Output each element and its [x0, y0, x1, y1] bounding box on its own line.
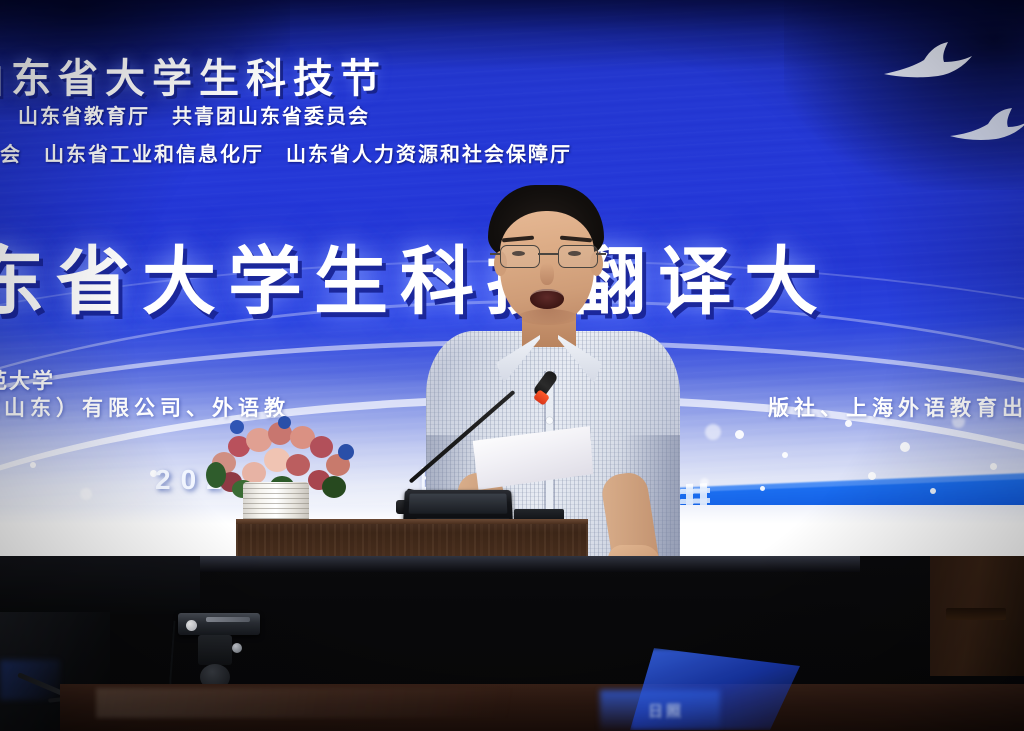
mic-stem — [409, 390, 516, 484]
bokeh-dot — [782, 452, 788, 458]
flower-accent — [278, 416, 291, 429]
dove-icon — [880, 40, 976, 92]
vase-ribs — [243, 482, 309, 524]
speaker-nose — [540, 263, 554, 285]
flower-bloom — [310, 436, 333, 458]
sponsor-line-right: 版社、上海外语教育出 — [768, 392, 1024, 422]
event-series-title: 山东省大学生科技节 — [0, 46, 387, 104]
tripod-head[interactable] — [198, 635, 232, 665]
tripod-knob[interactable] — [232, 643, 242, 653]
speaker-mouth — [530, 289, 564, 309]
monitor-screen — [409, 494, 508, 514]
flower-accent — [230, 420, 244, 434]
chin-shadow — [518, 309, 578, 325]
flower-leaf — [206, 462, 226, 488]
bokeh-dot — [700, 478, 709, 487]
lectern-top-edge — [236, 519, 588, 524]
flower-leaf — [322, 476, 346, 498]
table-reflection-sheen — [96, 688, 656, 718]
organizer-line-2: 委员会 山东省工业和信息化厅 山东省人力资源和社会保障厅 — [0, 138, 572, 167]
glasses-bridge — [538, 253, 558, 255]
flower-bloom — [286, 454, 310, 476]
glasses-lens — [558, 245, 598, 268]
photo-canvas: 山东省大学生科技节 会 山东省教育厅 共青团山东省委员会 委员会 山东省工业和信… — [0, 0, 1024, 731]
white-ribbed-vase — [243, 482, 309, 524]
wood-panel-groove — [946, 608, 1006, 620]
bokeh-dot — [735, 430, 744, 439]
glasses-temple — [596, 253, 606, 255]
dove-icon — [948, 106, 1024, 156]
bokeh-dot — [760, 486, 765, 491]
bokeh-dot — [930, 488, 936, 494]
organizer-line-1: 会 山东省教育厅 共青团山东省委员会 — [0, 100, 370, 129]
bokeh-dot — [705, 424, 721, 440]
camera-lens-icon — [186, 620, 197, 631]
glasses-lens — [500, 245, 540, 268]
reflected-text-blur: 日照 — [648, 700, 684, 721]
host-organization: 范大学 — [0, 365, 55, 395]
main-event-title: 东省大学生科技翻译大 — [0, 222, 830, 329]
camera-top-handle — [206, 617, 250, 622]
foreground-dark-bar — [0, 556, 200, 614]
bokeh-dot — [30, 462, 36, 468]
bokeh-dot — [900, 442, 910, 452]
flower-accent — [338, 444, 354, 460]
backdrop-corner-shadow — [784, 0, 1024, 190]
bokeh-dot — [80, 488, 92, 500]
glasses-temple — [490, 253, 500, 255]
bokeh-dot — [868, 472, 876, 480]
bokeh-dot — [990, 463, 997, 470]
